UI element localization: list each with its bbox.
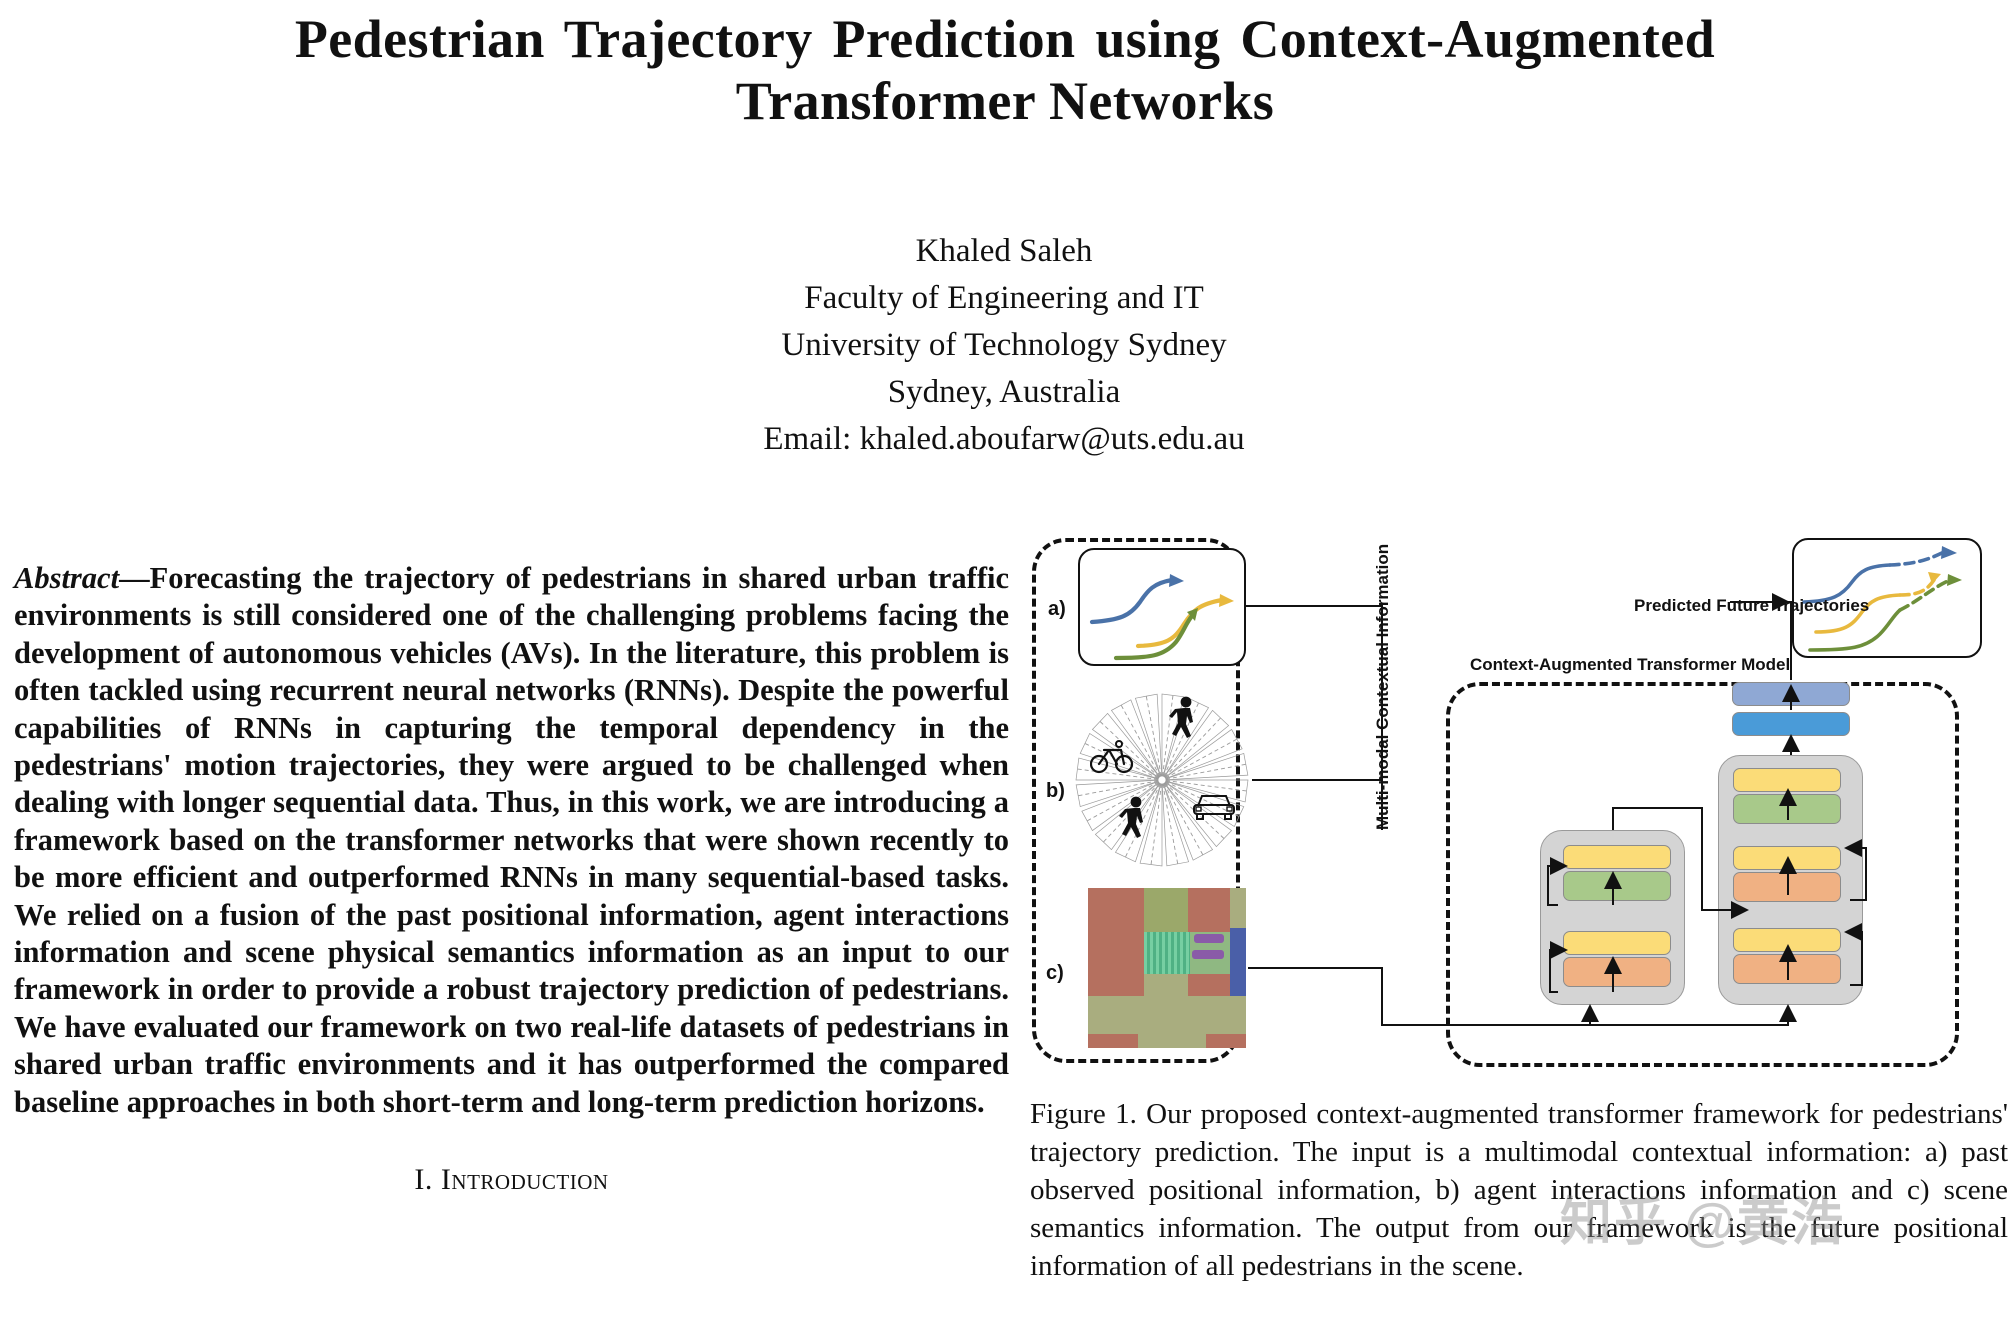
right-column: a): [1030, 530, 2008, 1090]
author-department: Faculty of Engineering and IT: [404, 275, 1604, 322]
abstract-label: Abstract: [14, 561, 119, 595]
figure-1: a): [1030, 530, 2008, 1090]
panel-c-scene-semantics: [1088, 888, 1246, 1048]
decoder-add-norm-3: [1733, 768, 1841, 792]
decoder-cross-attention: [1733, 872, 1841, 902]
panel-a-observed-trajectories: [1078, 548, 1246, 666]
encoder-multi-head-attention: [1563, 957, 1671, 987]
figure-caption: Figure 1. Our proposed context-augmented…: [1030, 1095, 2008, 1285]
author-institution: University of Technology Sydney: [404, 322, 1604, 369]
decoder-feed-forward: [1733, 794, 1841, 824]
abstract-paragraph: Abstract—Forecasting the trajectory of p…: [14, 560, 1009, 1121]
section-heading-introduction: I. Introduction: [14, 1163, 1009, 1197]
watermark: 知乎 @黄浩: [1560, 1180, 1845, 1255]
author-name: Khaled Saleh: [404, 228, 1604, 275]
title-line-1: Pedestrian Trajectory Prediction using C…: [110, 8, 1900, 70]
cyclist-icon: [1090, 740, 1136, 774]
author-email: Email: khaled.aboufarw@uts.edu.au: [404, 416, 1604, 463]
decoder-add-norm-2: [1733, 846, 1841, 870]
author-block: Khaled Saleh Faculty of Engineering and …: [404, 228, 1604, 463]
decoder-stack: [1718, 755, 1863, 1005]
encoder-add-norm-1: [1563, 931, 1671, 955]
panel-b-label: b): [1046, 780, 1065, 803]
decoder-masked-attention: [1733, 954, 1841, 984]
panel-b-agent-interactions: [1074, 680, 1250, 880]
abstract-text: Forecasting the trajectory of pedestrian…: [14, 561, 1009, 1119]
left-column: Abstract—Forecasting the trajectory of p…: [14, 560, 1009, 1197]
title-line-2: Transformer Networks: [110, 70, 1900, 132]
encoder-add-norm-2: [1563, 845, 1671, 869]
decoder-add-norm-1: [1733, 928, 1841, 952]
page-title: Pedestrian Trajectory Prediction using C…: [110, 8, 1900, 132]
transformer-model-box: [1446, 682, 1959, 1067]
encoder-feed-forward: [1563, 871, 1671, 901]
transformer-model-title: Context-Augmented Transformer Model: [1470, 655, 1790, 675]
car-icon: [1190, 790, 1238, 822]
output-linear-block: [1732, 712, 1850, 736]
encoder-stack: [1540, 830, 1685, 1005]
observed-trajectories-sketch: [1080, 550, 1243, 663]
author-location: Sydney, Australia: [404, 369, 1604, 416]
log-polar-grid: [1074, 680, 1250, 880]
panel-c-label: c): [1046, 962, 1064, 985]
multimodal-contextual-information-label: Multi-modal Contextual Information: [1373, 544, 1393, 830]
output-softmax-block: [1732, 682, 1850, 706]
pedestrian-icon: [1116, 796, 1150, 842]
pedestrian-icon: [1166, 696, 1200, 742]
predicted-future-trajectories-label: Predicted Future Trajectories: [1634, 596, 1869, 616]
panel-a-label: a): [1048, 598, 1066, 621]
abstract-dash: —: [119, 561, 150, 595]
